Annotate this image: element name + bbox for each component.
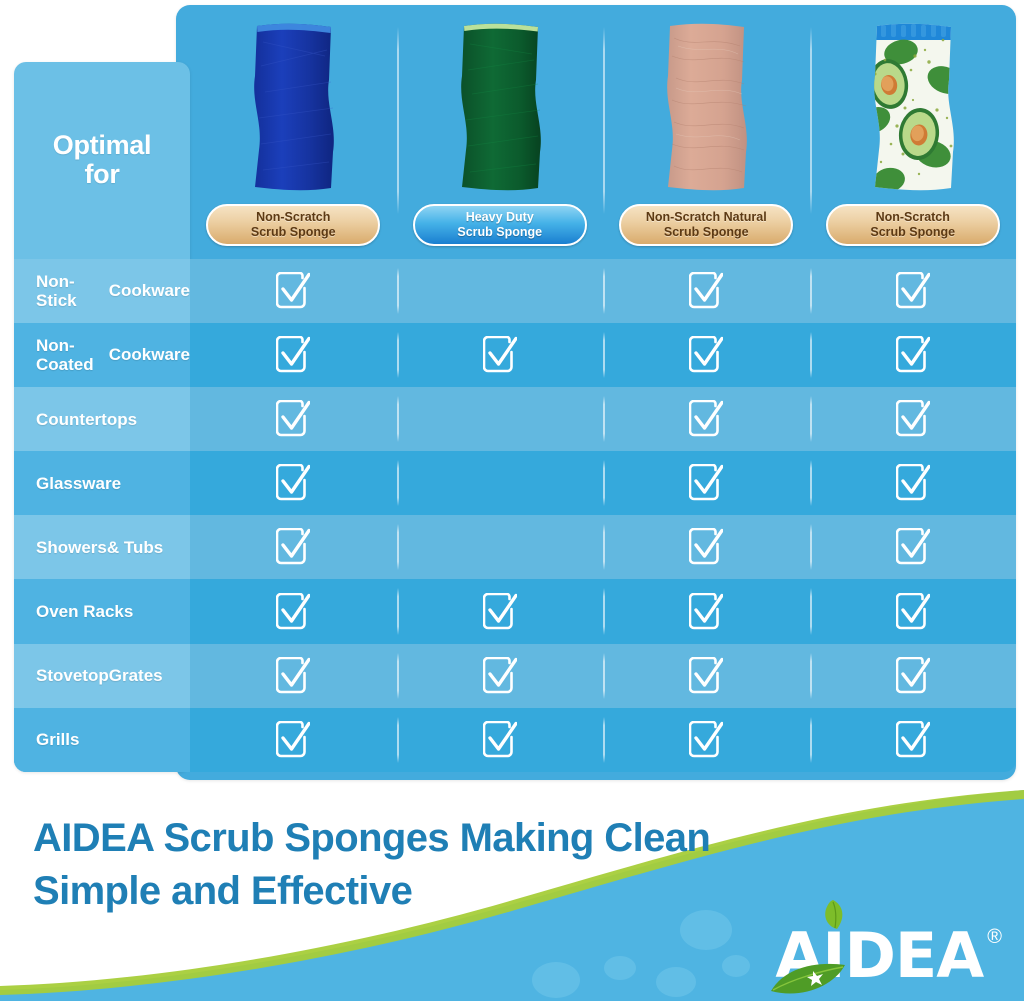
- row-label-line1: Oven Racks: [36, 602, 133, 621]
- checkmark-cell: [603, 387, 810, 451]
- checkbox-checked-icon: [896, 721, 930, 759]
- row-label-line1: Glassware: [36, 474, 121, 493]
- checkbox-checked-icon: [896, 593, 930, 631]
- tan-natural-pad-icon: [660, 22, 752, 194]
- row-label-line1: Stovetop: [36, 666, 109, 685]
- checkmark-cell: [810, 515, 1017, 579]
- row-label: Non-StickCookware: [14, 259, 190, 323]
- checkbox-checked-icon: [483, 721, 517, 759]
- checkmark-cell: [190, 323, 397, 387]
- optimal-for-line1: Optimal: [53, 130, 151, 160]
- checkbox-checked-icon: [689, 721, 723, 759]
- checkbox-checked-icon: [689, 528, 723, 566]
- leaf-accent-icon: [769, 961, 847, 997]
- checkbox-checked-icon: [276, 464, 310, 502]
- registered-trademark-symbol: ®: [987, 927, 1002, 947]
- checkmark-cell: [603, 323, 810, 387]
- row-label-line2: Cookware: [109, 345, 190, 364]
- checkmark-cell: [603, 259, 810, 323]
- checkbox-checked-icon: [276, 593, 310, 631]
- product-column-non-scratch[interactable]: Non-Scratch Scrub Sponge: [190, 5, 397, 258]
- checkmark-cell: [397, 708, 604, 772]
- row-label-line1: Non-Coated: [36, 336, 109, 375]
- row-cells: [190, 644, 1016, 708]
- checkmark-cell: [603, 644, 810, 708]
- table-row: Non-StickCookware: [14, 259, 1016, 323]
- checkmark-cell: [810, 387, 1017, 451]
- checkmark-cell: [810, 644, 1017, 708]
- checkbox-checked-icon: [276, 528, 310, 566]
- checkmark-cell: [190, 708, 397, 772]
- checkbox-checked-icon: [896, 272, 930, 310]
- checkbox-checked-icon: [896, 657, 930, 695]
- checkmark-cell: [810, 259, 1017, 323]
- row-label: Non-CoatedCookware: [14, 323, 190, 387]
- avocado-print-pad-icon: [867, 22, 959, 194]
- checkmark-cell: [397, 323, 604, 387]
- row-cells: [190, 515, 1016, 579]
- row-label: Countertops: [14, 387, 190, 451]
- blue-scrub-pad-icon: [247, 22, 339, 194]
- checkmark-cell: [810, 708, 1017, 772]
- comparison-table: Optimal for: [0, 0, 1024, 790]
- product-label-line2: Scrub Sponge: [664, 225, 749, 239]
- empty-cell: [397, 387, 604, 451]
- table-row: Grills: [14, 708, 1016, 772]
- row-cells: [190, 259, 1016, 323]
- comparison-matrix: Non-StickCookware Non-CoatedCookware Cou…: [14, 259, 1016, 772]
- table-row: Countertops: [14, 387, 1016, 451]
- product-label-line1: Non-Scratch Natural: [646, 210, 767, 224]
- checkmark-cell: [603, 708, 810, 772]
- checkbox-checked-icon: [483, 528, 517, 566]
- checkbox-checked-icon: [689, 657, 723, 695]
- checkbox-checked-icon: [896, 336, 930, 374]
- empty-cell: [397, 515, 604, 579]
- table-row: StovetopGrates: [14, 644, 1016, 708]
- checkbox-checked-icon: [483, 336, 517, 374]
- table-row: Oven Racks: [14, 579, 1016, 643]
- product-column-non-scratch-avocado[interactable]: Non-Scratch Scrub Sponge: [810, 5, 1017, 258]
- bottom-banner: AIDEA Scrub Sponges Making Clean Simple …: [0, 790, 1024, 1001]
- checkmark-cell: [190, 579, 397, 643]
- banner-headline: AIDEA Scrub Sponges Making Clean Simple …: [33, 812, 793, 918]
- checkbox-checked-icon: [483, 593, 517, 631]
- checkbox-checked-icon: [483, 464, 517, 502]
- checkbox-checked-icon: [689, 336, 723, 374]
- row-label-line2: Cookware: [109, 281, 190, 300]
- checkmark-cell: [603, 515, 810, 579]
- product-label-line1: Non-Scratch: [256, 210, 330, 224]
- checkbox-checked-icon: [276, 721, 310, 759]
- optimal-for-title: Optimal for: [53, 131, 151, 188]
- headline-line-1: AIDEA Scrub Sponges Making Clean: [33, 812, 793, 865]
- table-row: Non-CoatedCookware: [14, 323, 1016, 387]
- product-label-line2: Scrub Sponge: [251, 225, 336, 239]
- row-cells: [190, 451, 1016, 515]
- checkbox-checked-icon: [276, 272, 310, 310]
- row-cells: [190, 323, 1016, 387]
- table-row: Glassware: [14, 451, 1016, 515]
- empty-cell: [397, 451, 604, 515]
- checkmark-cell: [190, 515, 397, 579]
- checkmark-cell: [190, 387, 397, 451]
- green-scrub-pad-icon: [454, 22, 546, 194]
- checkbox-checked-icon: [276, 400, 310, 438]
- checkbox-checked-icon: [896, 528, 930, 566]
- checkbox-checked-icon: [483, 657, 517, 695]
- row-label-line1: Grills: [36, 730, 79, 749]
- headline-line-2: Simple and Effective: [33, 865, 793, 918]
- product-label-line1: Heavy Duty: [466, 210, 534, 224]
- checkbox-checked-icon: [689, 593, 723, 631]
- empty-cell: [397, 259, 604, 323]
- row-cells: [190, 579, 1016, 643]
- product-column-non-scratch-natural[interactable]: Non-Scratch Natural Scrub Sponge: [603, 5, 810, 258]
- row-label-line1: Showers: [36, 538, 107, 557]
- checkbox-checked-icon: [483, 400, 517, 438]
- aidea-logo: AIDEA ®: [775, 925, 1002, 987]
- product-label-pill: Heavy Duty Scrub Sponge: [413, 204, 587, 246]
- product-label-line2: Scrub Sponge: [870, 225, 955, 239]
- checkbox-checked-icon: [276, 657, 310, 695]
- row-label: Grills: [14, 708, 190, 772]
- product-label-pill: Non-Scratch Scrub Sponge: [206, 204, 380, 246]
- product-label-line1: Non-Scratch: [876, 210, 950, 224]
- row-label-line1: Non-Stick: [36, 272, 109, 311]
- aidea-wordmark: AIDEA: [775, 925, 983, 987]
- checkmark-cell: [397, 579, 604, 643]
- checkmark-cell: [190, 259, 397, 323]
- row-label: Showers& Tubs: [14, 515, 190, 579]
- checkbox-checked-icon: [689, 400, 723, 438]
- product-label-pill: Non-Scratch Scrub Sponge: [826, 204, 1000, 246]
- row-cells: [190, 708, 1016, 772]
- row-label: Glassware: [14, 451, 190, 515]
- checkmark-cell: [190, 644, 397, 708]
- checkbox-checked-icon: [483, 272, 517, 310]
- optimal-for-header: Optimal for: [14, 62, 190, 258]
- row-label: StovetopGrates: [14, 644, 190, 708]
- product-header-row: Non-Scratch Scrub Sponge: [190, 5, 1016, 258]
- checkmark-cell: [603, 579, 810, 643]
- checkbox-checked-icon: [896, 464, 930, 502]
- checkmark-cell: [397, 644, 604, 708]
- checkmark-cell: [810, 323, 1017, 387]
- checkmark-cell: [810, 451, 1017, 515]
- optimal-for-line2: for: [84, 159, 119, 189]
- checkbox-checked-icon: [276, 336, 310, 374]
- row-label-line2: Grates: [109, 666, 163, 685]
- checkbox-checked-icon: [896, 400, 930, 438]
- row-label-line2: & Tubs: [107, 538, 163, 557]
- checkmark-cell: [603, 451, 810, 515]
- row-label: Oven Racks: [14, 579, 190, 643]
- row-cells: [190, 387, 1016, 451]
- table-row: Showers& Tubs: [14, 515, 1016, 579]
- product-column-heavy-duty[interactable]: Heavy Duty Scrub Sponge: [397, 5, 604, 258]
- product-label-pill: Non-Scratch Natural Scrub Sponge: [619, 204, 793, 246]
- leaf-icon: [817, 899, 847, 933]
- product-label-line2: Scrub Sponge: [457, 225, 542, 239]
- checkmark-cell: [810, 579, 1017, 643]
- row-label-line1: Countertops: [36, 410, 137, 429]
- checkbox-checked-icon: [689, 464, 723, 502]
- checkmark-cell: [190, 451, 397, 515]
- checkbox-checked-icon: [689, 272, 723, 310]
